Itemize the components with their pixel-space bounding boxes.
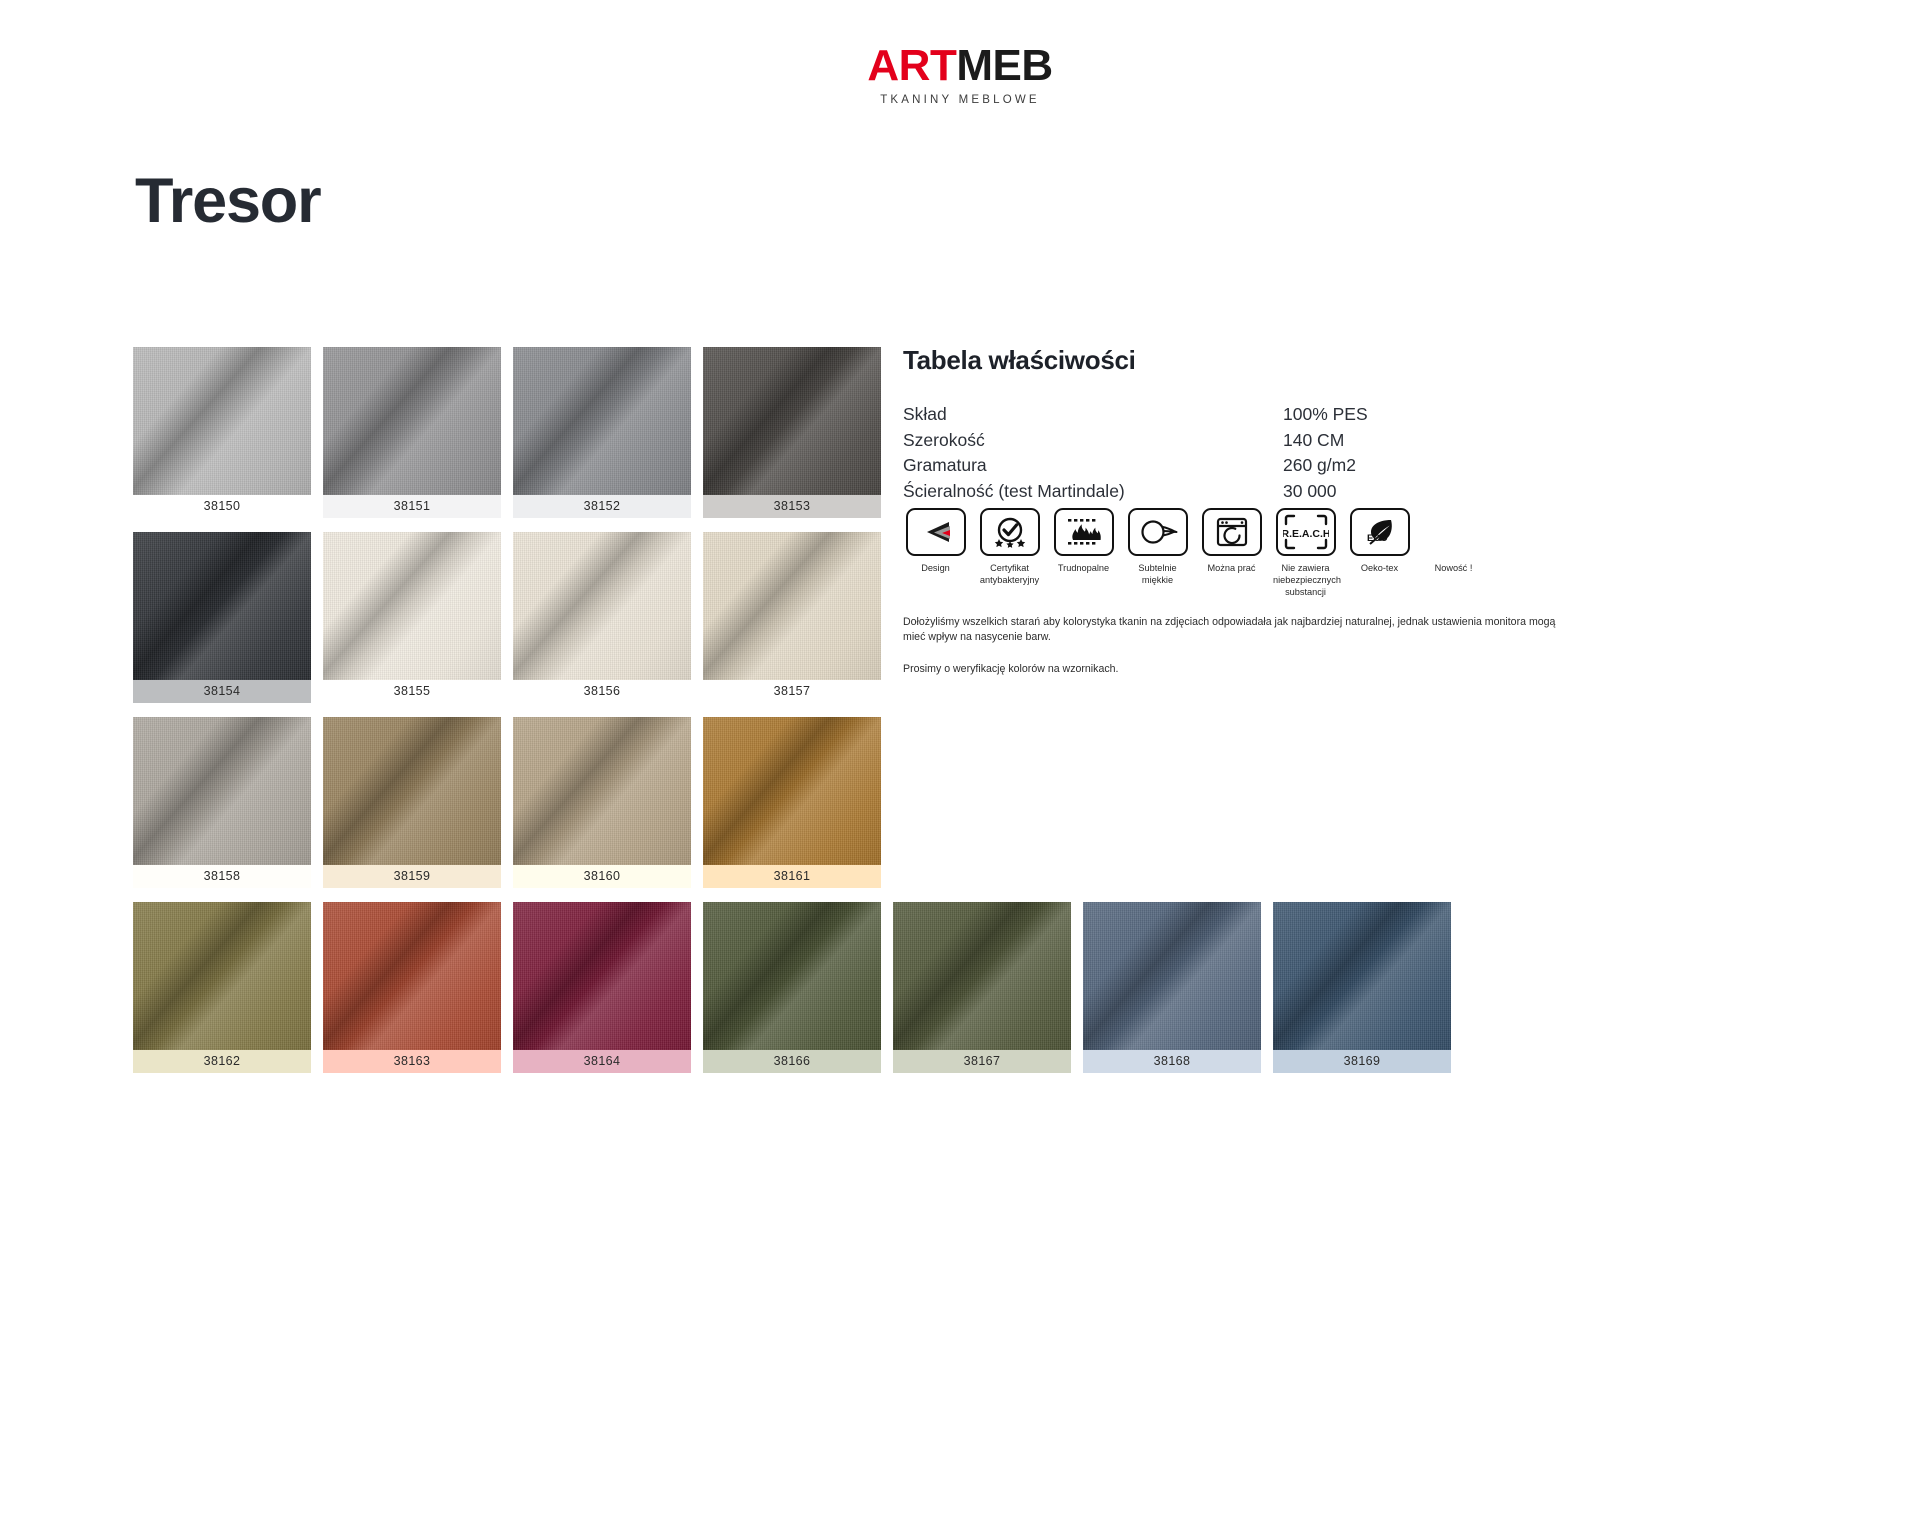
washable-machine-icon xyxy=(1202,508,1262,556)
swatch-color-chip[interactable] xyxy=(703,347,881,495)
swatch-code-label: 38164 xyxy=(513,1050,691,1073)
oeko-tex-leaf-icon: ECO xyxy=(1350,508,1410,556)
property-value: 140 CM xyxy=(1283,428,1463,454)
swatch-code-label: 38150 xyxy=(133,495,311,518)
feature-icon-caption: Trudnopalne xyxy=(1051,562,1116,574)
fabric-fold-shading xyxy=(133,717,311,865)
swatch-code-label: 38155 xyxy=(323,680,501,703)
swatch-38168[interactable]: 38168 xyxy=(1083,902,1261,1073)
property-key: Gramatura xyxy=(903,453,1283,479)
fabric-fold-shading xyxy=(323,902,501,1050)
swatch-38150[interactable]: 38150 xyxy=(133,347,311,518)
fabric-fold-shading xyxy=(703,532,881,680)
disclaimer-paragraph-2: Prosimy o weryfikację kolorów na wzornik… xyxy=(903,662,1563,677)
swatch-row: 38154381553815638157 xyxy=(133,532,878,703)
fabric-fold-shading xyxy=(323,717,501,865)
properties-panel: Tabela właściwości Skład100% PESSzerokoś… xyxy=(903,345,1603,504)
feature-icon-cell: Certyfikat antybakteryjny xyxy=(977,508,1042,598)
fabric-fold-shading xyxy=(133,902,311,1050)
fabric-fold-shading xyxy=(1273,902,1451,1050)
feature-icon-cell: ECOOeko-tex xyxy=(1347,508,1412,598)
design-arrow-icon xyxy=(906,508,966,556)
feature-icon-caption: Certyfikat antybakteryjny xyxy=(977,562,1042,586)
swatch-color-chip[interactable] xyxy=(133,347,311,495)
fabric-fold-shading xyxy=(1083,902,1261,1050)
disclaimer-paragraph-1: Dołożyliśmy wszelkich starań aby kolorys… xyxy=(903,615,1563,644)
swatch-38161[interactable]: 38161 xyxy=(703,717,881,888)
swatch-color-chip[interactable] xyxy=(323,717,501,865)
property-row: Szerokość140 CM xyxy=(903,428,1463,454)
property-value: 100% PES xyxy=(1283,402,1463,428)
feature-icon-cell: Nowość ! xyxy=(1421,508,1486,598)
fabric-fold-shading xyxy=(323,347,501,495)
swatch-38154[interactable]: 38154 xyxy=(133,532,311,703)
swatch-38169[interactable]: 38169 xyxy=(1273,902,1451,1073)
swatch-color-chip[interactable] xyxy=(133,717,311,865)
disclaimer-block: Dołożyliśmy wszelkich starań aby kolorys… xyxy=(903,615,1563,677)
feature-icon-caption: Nowość ! xyxy=(1421,562,1486,574)
fabric-fold-shading xyxy=(513,347,691,495)
swatch-color-chip[interactable] xyxy=(513,532,691,680)
swatch-row: 38158381593816038161 xyxy=(133,717,878,888)
feature-icon-cell: Design xyxy=(903,508,968,598)
swatch-38163[interactable]: 38163 xyxy=(323,902,501,1073)
fabric-fold-shading xyxy=(703,902,881,1050)
soft-touch-icon xyxy=(1128,508,1188,556)
property-key: Ścieralność (test Martindale) xyxy=(903,479,1283,505)
swatch-color-chip[interactable] xyxy=(513,347,691,495)
swatch-color-chip[interactable] xyxy=(323,902,501,1050)
swatch-38152[interactable]: 38152 xyxy=(513,347,691,518)
feature-icon-cell: R.E.A.C.HNie zawiera niebezpiecznych sub… xyxy=(1273,508,1338,598)
swatch-38166[interactable]: 38166 xyxy=(703,902,881,1073)
brand-logo: ARTMEB TKANINY MEBLOWE xyxy=(0,44,1920,106)
swatch-38164[interactable]: 38164 xyxy=(513,902,691,1073)
new-badge-icon xyxy=(1424,508,1484,556)
antibacterial-check-icon xyxy=(980,508,1040,556)
swatch-code-label: 38167 xyxy=(893,1050,1071,1073)
fabric-fold-shading xyxy=(893,902,1071,1050)
swatch-38155[interactable]: 38155 xyxy=(323,532,501,703)
swatch-color-chip[interactable] xyxy=(323,532,501,680)
property-row: Skład100% PES xyxy=(903,402,1463,428)
reach-compliance-icon: R.E.A.C.H xyxy=(1276,508,1336,556)
feature-icon-caption: Oeko-tex xyxy=(1347,562,1412,574)
properties-table: Skład100% PESSzerokość140 CMGramatura260… xyxy=(903,402,1463,504)
brand-wordmark: ARTMEB xyxy=(0,44,1920,88)
feature-icon-cell: Trudnopalne xyxy=(1051,508,1116,598)
swatch-38167[interactable]: 38167 xyxy=(893,902,1071,1073)
swatch-38158[interactable]: 38158 xyxy=(133,717,311,888)
swatch-code-label: 38152 xyxy=(513,495,691,518)
feature-icon-cell: Subtelnie miękkie xyxy=(1125,508,1190,598)
properties-heading: Tabela właściwości xyxy=(903,345,1603,376)
fabric-fold-shading xyxy=(703,717,881,865)
fabric-fold-shading xyxy=(323,532,501,680)
swatch-38156[interactable]: 38156 xyxy=(513,532,691,703)
property-value: 260 g/m2 xyxy=(1283,453,1463,479)
property-key: Szerokość xyxy=(903,428,1283,454)
swatch-color-chip[interactable] xyxy=(893,902,1071,1050)
swatch-code-label: 38159 xyxy=(323,865,501,888)
feature-icon-cell: Można prać xyxy=(1199,508,1264,598)
property-row: Ścieralność (test Martindale)30 000 xyxy=(903,479,1463,505)
swatch-row: 38162381633816438166381673816838169 xyxy=(133,902,1438,1073)
swatch-code-label: 38158 xyxy=(133,865,311,888)
svg-text:ECO: ECO xyxy=(1367,533,1388,544)
swatch-38157[interactable]: 38157 xyxy=(703,532,881,703)
swatch-color-chip[interactable] xyxy=(133,532,311,680)
swatch-row: 38150381513815238153 xyxy=(133,347,878,518)
swatch-color-chip[interactable] xyxy=(513,717,691,865)
swatch-code-label: 38156 xyxy=(513,680,691,703)
swatch-color-chip[interactable] xyxy=(703,902,881,1050)
fabric-fold-shading xyxy=(513,717,691,865)
swatch-color-chip[interactable] xyxy=(1273,902,1451,1050)
brand-tagline: TKANINY MEBLOWE xyxy=(0,94,1920,106)
catalog-page: ARTMEB TKANINY MEBLOWE Tresor 3815038151… xyxy=(0,0,1920,1538)
swatch-color-chip[interactable] xyxy=(1083,902,1261,1050)
fabric-fold-shading xyxy=(513,902,691,1050)
svg-text:R.E.A.C.H: R.E.A.C.H xyxy=(1283,528,1329,540)
swatch-code-label: 38153 xyxy=(703,495,881,518)
swatch-code-label: 38166 xyxy=(703,1050,881,1073)
swatch-color-chip[interactable] xyxy=(323,347,501,495)
feature-icon-caption: Design xyxy=(903,562,968,574)
swatch-color-chip[interactable] xyxy=(703,717,881,865)
swatch-color-chip[interactable] xyxy=(513,902,691,1050)
feature-icon-caption: Można prać xyxy=(1199,562,1264,574)
swatch-color-chip[interactable] xyxy=(703,532,881,680)
swatch-color-chip[interactable] xyxy=(133,902,311,1050)
swatch-code-label: 38162 xyxy=(133,1050,311,1073)
swatch-code-label: 38163 xyxy=(323,1050,501,1073)
swatch-code-label: 38169 xyxy=(1273,1050,1451,1073)
swatch-code-label: 38157 xyxy=(703,680,881,703)
swatch-38159[interactable]: 38159 xyxy=(323,717,501,888)
property-value: 30 000 xyxy=(1283,479,1463,505)
swatch-grid: 3815038151381523815338154381553815638157… xyxy=(133,347,878,1087)
brand-name-part1: ART xyxy=(867,41,956,90)
swatch-38151[interactable]: 38151 xyxy=(323,347,501,518)
feature-icon-caption: Nie zawiera niebezpiecznych substancji xyxy=(1273,562,1338,598)
fabric-fold-shading xyxy=(133,347,311,495)
fabric-fold-shading xyxy=(133,532,311,680)
flame-retardant-icon xyxy=(1054,508,1114,556)
property-row: Gramatura260 g/m2 xyxy=(903,453,1463,479)
swatch-code-label: 38168 xyxy=(1083,1050,1261,1073)
swatch-38160[interactable]: 38160 xyxy=(513,717,691,888)
swatch-code-label: 38161 xyxy=(703,865,881,888)
swatch-code-label: 38154 xyxy=(133,680,311,703)
swatch-38153[interactable]: 38153 xyxy=(703,347,881,518)
fabric-fold-shading xyxy=(513,532,691,680)
swatch-code-label: 38151 xyxy=(323,495,501,518)
swatch-38162[interactable]: 38162 xyxy=(133,902,311,1073)
feature-icon-caption: Subtelnie miękkie xyxy=(1125,562,1190,586)
property-key: Skład xyxy=(903,402,1283,428)
brand-name-part2: MEB xyxy=(956,41,1052,90)
feature-icons-row: DesignCertyfikat antybakteryjnyTrudnopal… xyxy=(903,508,1486,598)
swatch-code-label: 38160 xyxy=(513,865,691,888)
page-title: Tresor xyxy=(135,168,320,234)
fabric-fold-shading xyxy=(703,347,881,495)
